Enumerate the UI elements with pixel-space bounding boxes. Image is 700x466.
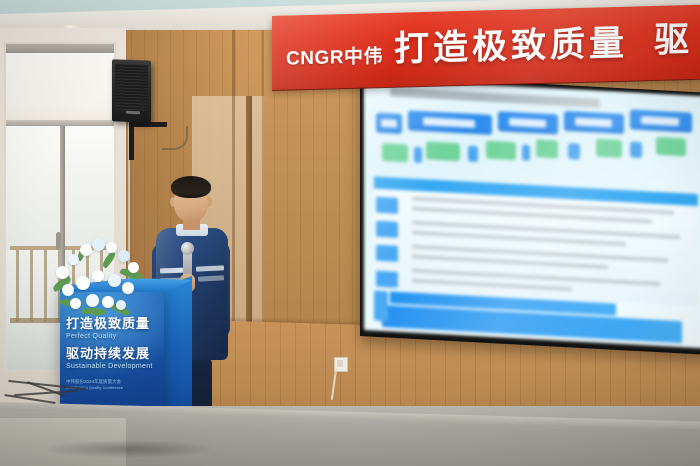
flower-bloom [108, 274, 121, 287]
slide-blue-chip [568, 143, 580, 160]
podium-shadow [44, 440, 214, 458]
slide-chevron [630, 109, 692, 132]
slide-green-box [382, 143, 408, 162]
slide-chevron-label [641, 116, 679, 126]
flower-bloom [106, 242, 117, 253]
flower-bloom [70, 298, 81, 309]
slide-title-placeholder [390, 87, 600, 107]
slide-chevron-label [381, 119, 397, 128]
flower-bloom [102, 296, 114, 308]
podium-line2-cn: 驱动持续发展 [66, 346, 162, 361]
slide-green-box [426, 141, 460, 161]
power-outlet-face [337, 360, 343, 367]
slide-footer-label [374, 291, 388, 322]
conference-photo-scene: CNGR中伟 打造极致质量 驱 打造极致质量 Perfect Quality 驱… [0, 0, 700, 466]
slide-blue-chip [630, 141, 642, 158]
flower-bloom [76, 276, 90, 290]
roller-blind-headrail [6, 44, 114, 53]
flower-bloom [92, 270, 104, 282]
presenter-hair [171, 176, 211, 198]
flower-bloom [118, 250, 130, 262]
roller-blind[interactable] [6, 53, 114, 125]
banner-headline: 打造极致质量 [394, 15, 628, 72]
microphone-head-icon [181, 242, 194, 255]
slide-blue-chip [522, 145, 530, 161]
flower-bloom [56, 266, 69, 279]
slide-green-box [536, 139, 558, 158]
slide-chevron [564, 111, 624, 134]
flower-bloom [62, 284, 74, 296]
slide-green-box [596, 139, 622, 158]
slide-row-label [376, 271, 398, 288]
flower-bloom [116, 300, 126, 310]
flower-bloom [68, 254, 79, 265]
railing-post [16, 250, 19, 322]
event-banner: CNGR中伟 打造极致质量 驱 [272, 5, 700, 90]
slide-blue-chip [468, 146, 478, 163]
flower-arrangement [52, 236, 148, 322]
speaker-grille [115, 63, 148, 112]
roller-blind-bottom-bar[interactable] [6, 120, 114, 126]
flower-leaf [82, 306, 107, 316]
podium-line3-small: 中伟股份2024年度质量大会 [66, 378, 162, 385]
projection-screen [364, 78, 700, 348]
speaker-mount-arm [129, 122, 167, 127]
cngr-logo: CNGR中伟 [286, 41, 383, 71]
podium-line2-en: Sustainable Development [66, 361, 162, 372]
flower-bloom [80, 244, 92, 256]
banner-headline-tail: 驱 [654, 11, 693, 63]
slide-blue-chip [414, 147, 422, 163]
slide-chevron-label [509, 118, 546, 128]
flower-leaf [101, 250, 118, 268]
speaker-mount-arm [129, 122, 134, 160]
speaker-badge [126, 111, 140, 114]
slide-row-label [376, 221, 398, 238]
slide-chevron [498, 111, 558, 134]
railing-post [30, 250, 33, 322]
podium-line1-en: Perfect Quality [66, 331, 162, 342]
slide-chevron [376, 113, 402, 134]
slide-chevron [408, 110, 492, 135]
railing-post [44, 250, 47, 322]
slide-chevron-label [423, 117, 475, 128]
flower-bloom [92, 238, 105, 251]
flower-bloom [122, 282, 134, 294]
slide-green-box [486, 141, 516, 161]
podium-branding: 打造极致质量 Perfect Quality 驱动持续发展 Sustainabl… [66, 316, 162, 391]
slide-row-label [376, 245, 398, 262]
slide-green-box [656, 137, 686, 157]
slide-chevron-label [575, 117, 612, 127]
flower-bloom [128, 262, 139, 273]
flower-bloom [86, 294, 99, 307]
slide-row-label [376, 197, 398, 214]
